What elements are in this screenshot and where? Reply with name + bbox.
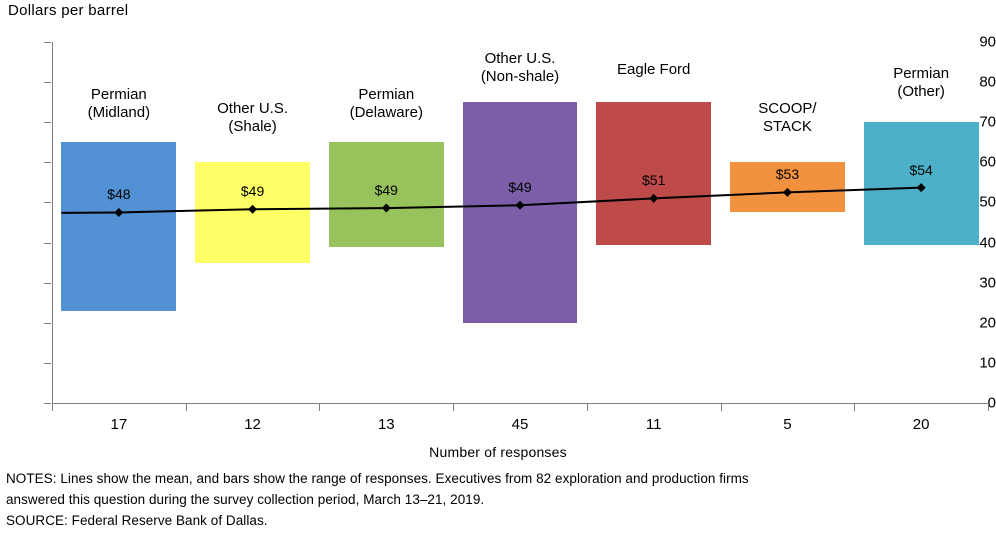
category-label-line: Other U.S. bbox=[217, 100, 288, 118]
y-axis-tick-mark bbox=[44, 363, 51, 364]
chart-root: Dollars per barrel 0102030405060708090 P… bbox=[0, 0, 996, 534]
category-label-line: STACK bbox=[758, 118, 816, 136]
x-axis-tick-label: 17 bbox=[111, 416, 128, 433]
x-axis-line bbox=[52, 403, 988, 404]
category-label: Eagle Ford bbox=[617, 61, 690, 79]
y-axis-tick-label: 10 bbox=[956, 354, 996, 371]
y-axis-tick-label: 90 bbox=[956, 34, 996, 51]
x-axis-tick-mark bbox=[721, 404, 722, 411]
category-label: Permian(Delaware) bbox=[350, 86, 423, 122]
y-axis-tick-mark bbox=[44, 243, 51, 244]
mean-value-label: $51 bbox=[642, 172, 665, 188]
y-axis-tick-mark bbox=[44, 82, 51, 83]
footnote-notes-line-1: NOTES: Lines show the mean, and bars sho… bbox=[6, 468, 986, 489]
category-label-line: Eagle Ford bbox=[617, 61, 690, 79]
x-axis-tick-label: 5 bbox=[783, 416, 791, 433]
category-label-line: (Delaware) bbox=[350, 104, 423, 122]
range-bar[interactable] bbox=[195, 162, 310, 262]
category-label-line: Permian bbox=[893, 65, 949, 83]
x-axis-tick-mark bbox=[52, 404, 53, 411]
x-axis-tick-label: 11 bbox=[646, 416, 662, 433]
footnotes: NOTES: Lines show the mean, and bars sho… bbox=[6, 468, 986, 531]
y-axis-line bbox=[52, 42, 53, 404]
category-label: Permian(Midland) bbox=[88, 86, 151, 122]
y-axis-tick-mark bbox=[44, 283, 51, 284]
x-axis-tick-mark bbox=[854, 404, 855, 411]
x-axis-tick-mark bbox=[988, 404, 989, 411]
mean-value-label: $49 bbox=[508, 179, 531, 195]
y-axis-tick-mark bbox=[44, 162, 51, 163]
x-axis-title: Number of responses bbox=[0, 444, 996, 460]
category-label-line: SCOOP/ bbox=[758, 100, 816, 118]
category-label-line: Permian bbox=[88, 86, 151, 104]
range-bar[interactable] bbox=[463, 102, 578, 323]
mean-value-label: $53 bbox=[776, 166, 799, 182]
y-axis-tick-label: 30 bbox=[956, 274, 996, 291]
x-axis-tick-mark bbox=[186, 404, 187, 411]
mean-value-label: $49 bbox=[241, 183, 264, 199]
x-axis-tick-label: 20 bbox=[913, 416, 930, 433]
x-axis-tick-label: 12 bbox=[244, 416, 261, 433]
range-bar[interactable] bbox=[864, 122, 979, 244]
category-label-line: (Shale) bbox=[217, 118, 288, 136]
y-axis-tick-label: 80 bbox=[956, 74, 996, 91]
category-label: Other U.S.(Shale) bbox=[217, 100, 288, 136]
range-bar[interactable] bbox=[61, 142, 176, 310]
y-axis-tick-label: 20 bbox=[956, 314, 996, 331]
x-axis-tick-mark bbox=[453, 404, 454, 411]
category-label-line: (Midland) bbox=[88, 104, 151, 122]
mean-value-label: $49 bbox=[375, 182, 398, 198]
x-axis-tick-mark bbox=[587, 404, 588, 411]
y-axis-title: Dollars per barrel bbox=[8, 2, 128, 19]
mean-value-label: $48 bbox=[107, 186, 130, 202]
y-axis-tick-mark bbox=[44, 403, 51, 404]
y-axis-tick-label: 0 bbox=[956, 395, 996, 412]
category-label: Permian(Other) bbox=[893, 65, 949, 101]
x-axis-tick-mark bbox=[319, 404, 320, 411]
x-axis-tick-label: 45 bbox=[512, 416, 529, 433]
category-label-line: (Non-shale) bbox=[481, 68, 559, 86]
category-label: SCOOP/STACK bbox=[758, 100, 816, 136]
y-axis-tick-mark bbox=[44, 42, 51, 43]
footnote-source: SOURCE: Federal Reserve Bank of Dallas. bbox=[6, 510, 986, 531]
y-axis-tick-mark bbox=[44, 323, 51, 324]
y-axis-tick-mark bbox=[44, 202, 51, 203]
category-label: Other U.S.(Non-shale) bbox=[481, 50, 559, 86]
footnote-notes-line-2: answered this question during the survey… bbox=[6, 489, 986, 510]
x-axis-tick-label: 13 bbox=[378, 416, 395, 433]
category-label-line: Other U.S. bbox=[481, 50, 559, 68]
mean-value-label: $54 bbox=[909, 162, 932, 178]
y-axis-tick-mark bbox=[44, 122, 51, 123]
category-label-line: Permian bbox=[350, 86, 423, 104]
category-label-line: (Other) bbox=[893, 83, 949, 101]
